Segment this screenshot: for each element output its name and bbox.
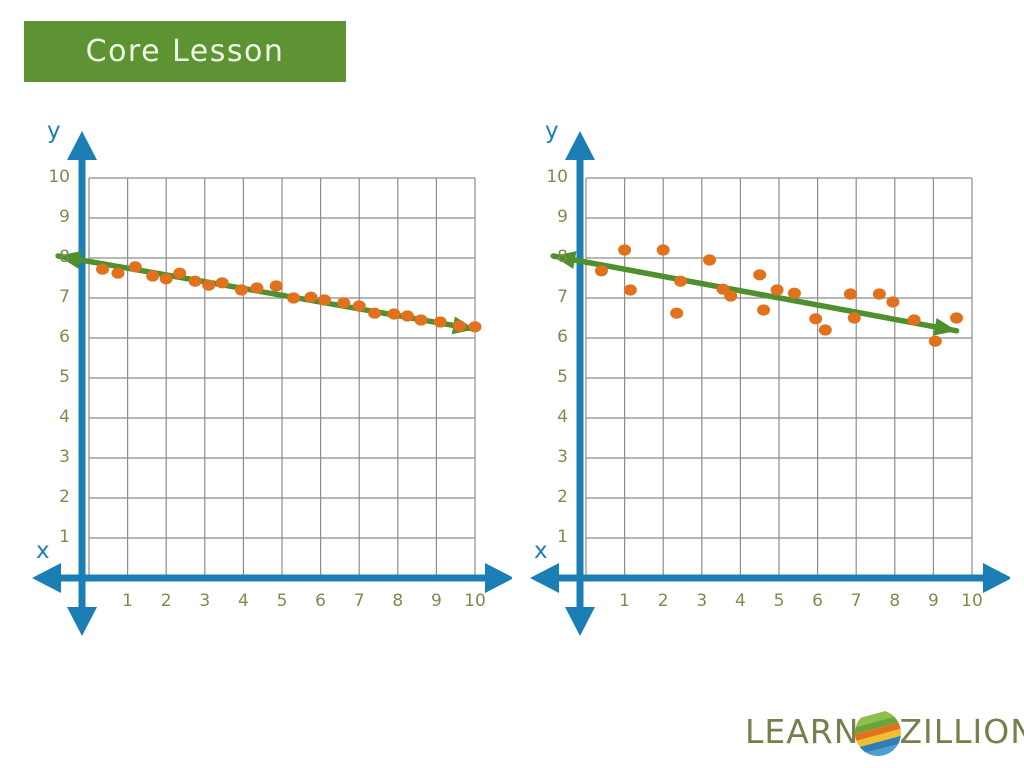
data-point: [670, 308, 683, 319]
data-point: [848, 312, 861, 323]
data-point: [624, 284, 637, 295]
x-tick-label: 10: [455, 591, 495, 611]
data-point: [250, 282, 263, 293]
x-tick-label: 7: [339, 591, 379, 611]
y-tick-label: 2: [30, 487, 70, 507]
data-point: [757, 304, 770, 315]
y-axis-label: y: [545, 118, 559, 144]
y-tick-label: 6: [528, 327, 568, 347]
x-tick-label: 1: [605, 591, 645, 611]
x-tick-label: 5: [759, 591, 799, 611]
data-point: [401, 310, 414, 321]
data-point: [96, 264, 109, 275]
y-tick-label: 8: [528, 247, 568, 267]
globe-stripes-mark-icon: [853, 708, 903, 758]
data-point: [216, 277, 229, 288]
y-tick-label: 4: [528, 407, 568, 427]
x-axis-label: x: [534, 538, 548, 564]
data-point: [337, 297, 350, 308]
data-point: [618, 244, 631, 255]
data-point: [809, 313, 822, 324]
data-point: [353, 300, 366, 311]
data-points: [96, 261, 481, 332]
y-tick-label: 10: [528, 167, 568, 187]
data-point: [368, 308, 381, 319]
grid-lines: [89, 178, 475, 578]
x-tick-label: 7: [836, 591, 876, 611]
data-point: [304, 292, 317, 303]
data-point: [674, 276, 687, 287]
y-tick-label: 5: [30, 367, 70, 387]
y-tick-label: 3: [528, 447, 568, 467]
data-point: [160, 273, 173, 284]
trend-line: [58, 251, 475, 334]
data-point: [819, 324, 832, 335]
scatter-plot-left: 1234567891012345678910yx: [0, 0, 512, 700]
data-point: [886, 296, 899, 307]
data-point: [753, 269, 766, 280]
y-tick-label: 7: [30, 287, 70, 307]
y-tick-label: 9: [30, 207, 70, 227]
grid-lines: [586, 178, 972, 578]
y-tick-label: 7: [528, 287, 568, 307]
data-point: [657, 244, 670, 255]
x-tick-label: 2: [146, 591, 186, 611]
data-point: [387, 308, 400, 319]
x-tick-label: 8: [875, 591, 915, 611]
data-point: [235, 284, 248, 295]
x-tick-label: 5: [262, 591, 302, 611]
x-tick-label: 9: [913, 591, 953, 611]
data-point: [469, 321, 482, 332]
y-tick-label: 9: [528, 207, 568, 227]
x-tick-label: 9: [416, 591, 456, 611]
y-tick-label: 5: [528, 367, 568, 387]
x-tick-label: 2: [643, 591, 683, 611]
data-point: [202, 280, 215, 291]
data-point: [950, 312, 963, 323]
x-tick-label: 3: [682, 591, 722, 611]
logo-text-zillion: ZILLION: [899, 712, 1024, 751]
y-tick-label: 6: [30, 327, 70, 347]
x-axis-label: x: [36, 538, 50, 564]
y-axis-label: y: [47, 118, 61, 144]
y-tick-label: 4: [30, 407, 70, 427]
y-tick-label: 8: [30, 247, 70, 267]
trend-line: [553, 251, 956, 335]
data-point: [414, 314, 427, 325]
data-point: [287, 292, 300, 303]
x-tick-label: 1: [108, 591, 148, 611]
data-point: [595, 265, 608, 276]
data-point: [771, 284, 784, 295]
y-tick-label: 10: [30, 167, 70, 187]
data-point: [270, 280, 283, 291]
data-point: [724, 290, 737, 301]
data-point: [929, 336, 942, 347]
data-point: [873, 288, 886, 299]
data-point: [146, 270, 159, 281]
x-tick-label: 3: [185, 591, 225, 611]
data-point: [189, 276, 202, 287]
x-tick-label: 4: [223, 591, 263, 611]
scatter-plot-right: 1234567891012345678910yx: [498, 0, 1010, 700]
y-tick-label: 2: [528, 487, 568, 507]
data-point: [788, 288, 801, 299]
data-point: [908, 314, 921, 325]
x-tick-label: 10: [952, 591, 992, 611]
data-point: [453, 320, 466, 331]
x-tick-label: 4: [720, 591, 760, 611]
x-tick-label: 6: [301, 591, 341, 611]
data-point: [173, 268, 186, 279]
axes: [530, 131, 1010, 636]
axes: [32, 131, 512, 636]
y-tick-label: 3: [30, 447, 70, 467]
data-point: [111, 268, 124, 279]
learnzillion-logo: LEARN ZILLION: [745, 706, 1024, 756]
data-point: [434, 316, 447, 327]
data-point: [844, 288, 857, 299]
data-point: [703, 254, 716, 265]
data-point: [318, 294, 331, 305]
logo-text-learn: LEARN: [745, 712, 859, 751]
x-tick-label: 6: [798, 591, 838, 611]
data-point: [129, 261, 142, 272]
x-tick-label: 8: [378, 591, 418, 611]
